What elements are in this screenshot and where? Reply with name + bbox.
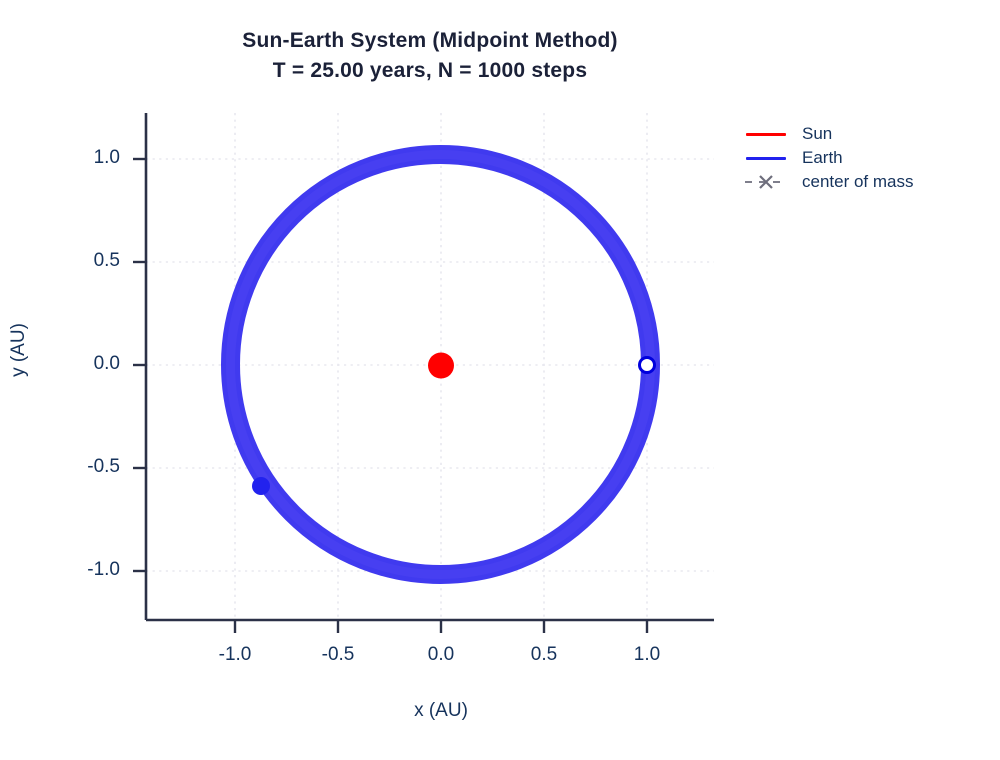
y-tick-label-0: 1.0 bbox=[40, 147, 120, 169]
x-tick-label-2: 0.0 bbox=[401, 644, 481, 666]
legend-item-sun[interactable]: Sun bbox=[742, 122, 992, 146]
legend-key-sun bbox=[742, 123, 790, 145]
legend-label-sun: Sun bbox=[802, 124, 832, 144]
legend-item-earth[interactable]: Earth bbox=[742, 146, 992, 170]
earth-start-marker bbox=[640, 358, 655, 373]
red-line-icon bbox=[746, 133, 786, 136]
plot-area bbox=[0, 0, 1000, 760]
legend-label-center-of-mass: center of mass bbox=[802, 172, 914, 192]
y-tick-label-1: 0.5 bbox=[40, 250, 120, 272]
y-axis-title: y (AU) bbox=[8, 250, 30, 450]
y-tick-label-2: 0.0 bbox=[40, 353, 120, 375]
x-tick-label-3: 0.5 bbox=[504, 644, 584, 666]
legend-key-center-of-mass bbox=[742, 171, 790, 193]
x-tick-label-4: 1.0 bbox=[607, 644, 687, 666]
legend-key-earth bbox=[742, 147, 790, 169]
y-tick-label-4: -1.0 bbox=[40, 559, 120, 581]
sun-marker bbox=[428, 353, 454, 379]
blue-line-icon bbox=[746, 157, 786, 160]
figure-canvas: Sun-Earth System (Midpoint Method) T = 2… bbox=[0, 0, 1000, 760]
y-tick-label-3: -0.5 bbox=[40, 456, 120, 478]
legend-item-center-of-mass[interactable]: center of mass bbox=[742, 170, 992, 194]
x-tick-label-1: -0.5 bbox=[298, 644, 378, 666]
earth-position-marker bbox=[252, 477, 270, 495]
legend-label-earth: Earth bbox=[802, 148, 843, 168]
legend: Sun Earth center of mass bbox=[742, 122, 992, 194]
x-tick-label-0: -1.0 bbox=[195, 644, 275, 666]
dashed-x-marker-icon bbox=[742, 171, 790, 193]
x-axis-title: x (AU) bbox=[341, 700, 541, 722]
